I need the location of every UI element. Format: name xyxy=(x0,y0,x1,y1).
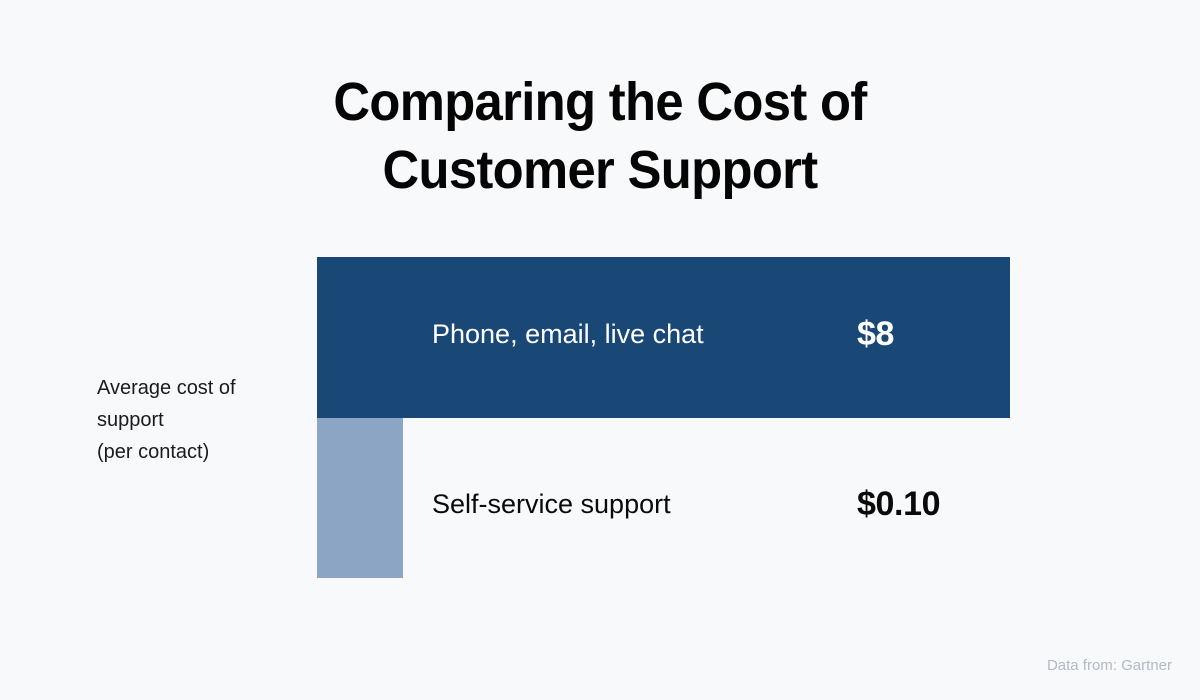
bar-label-self-service-support: Self-service support xyxy=(432,489,671,520)
chart-row: Self-service support $0.10 xyxy=(317,418,1177,578)
bar-value-phone-email-live-chat: $8 xyxy=(857,315,894,354)
page-title: Comparing the Cost of Customer Support xyxy=(36,68,1164,204)
infographic-canvas: Comparing the Cost of Customer Support A… xyxy=(0,0,1200,700)
bar-label-phone-email-live-chat: Phone, email, live chat xyxy=(432,319,704,350)
bar-chart: Phone, email, live chat $8 Self-service … xyxy=(317,257,1177,578)
axis-caption: Average cost of support (per contact) xyxy=(97,372,302,468)
chart-row: Phone, email, live chat $8 xyxy=(317,257,1177,418)
bar-self-service-support xyxy=(317,418,403,578)
bar-value-self-service-support: $0.10 xyxy=(857,485,940,524)
source-note: Data from: Gartner xyxy=(1047,657,1172,674)
